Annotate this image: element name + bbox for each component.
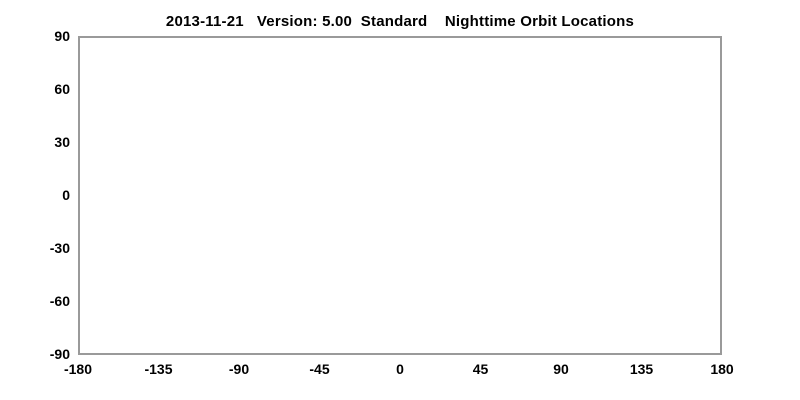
figure-title: 2013-11-21 Version: 5.00 Standard Nightt…	[0, 13, 800, 30]
x-tick-m45: -45	[275, 355, 365, 376]
y-tick-0: 0	[18, 188, 78, 202]
plot-frame	[78, 36, 722, 355]
y-tick-30: 30	[18, 135, 78, 149]
x-tick-135: 135	[597, 355, 687, 376]
y-tick-60: 60	[18, 82, 78, 96]
orbit-map-figure: 2013-11-21 Version: 5.00 Standard Nightt…	[0, 0, 800, 400]
x-tick-m135: -135	[114, 355, 204, 376]
x-tick-0: 0	[355, 355, 445, 376]
plot-area	[78, 36, 722, 355]
x-tick-m180: -180	[33, 355, 123, 376]
y-tick-m30: -30	[18, 241, 78, 255]
y-tick-90: 90	[18, 29, 78, 43]
x-tick-m90: -90	[194, 355, 284, 376]
x-tick-45: 45	[436, 355, 526, 376]
x-tick-180: 180	[677, 355, 767, 376]
y-tick-m60: -60	[18, 294, 78, 308]
x-tick-90: 90	[516, 355, 606, 376]
